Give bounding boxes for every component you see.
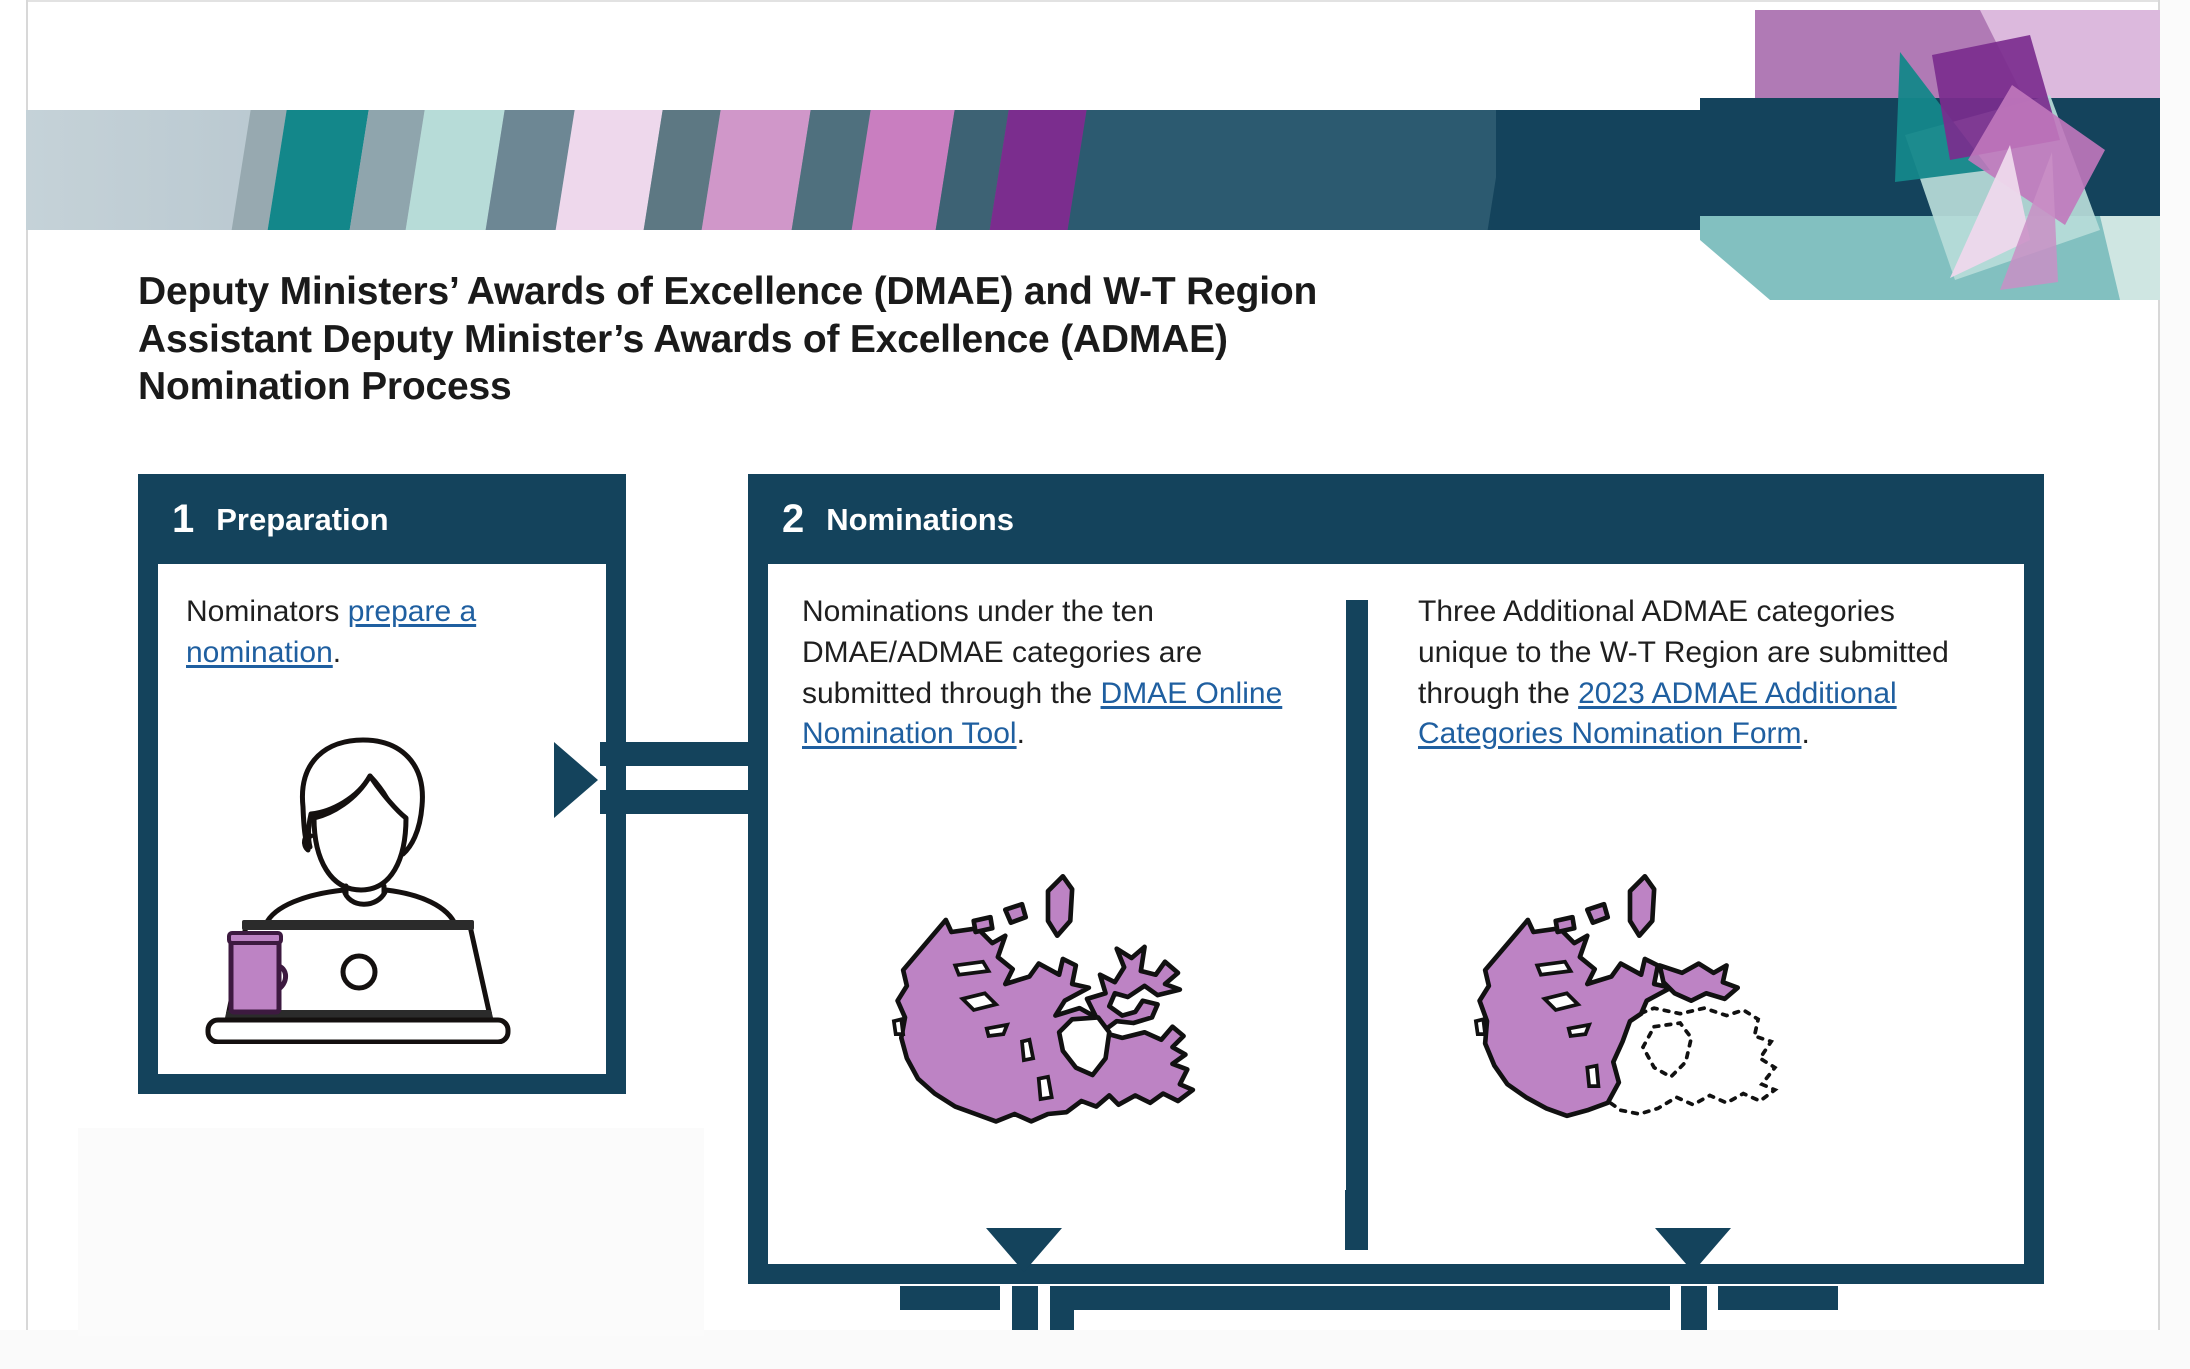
connector-stem-down-left (1012, 1286, 1038, 1330)
connector-stem-center-left (1050, 1286, 1074, 1330)
great-bear-lake-w-shape (1537, 962, 1570, 975)
arctic-island-w2 (1587, 904, 1607, 923)
arctic-island-w1 (1630, 876, 1654, 935)
step-2-column-2-paragraph: Three Additional ADMAE categories unique… (1418, 592, 1978, 755)
arctic-island-w3 (1556, 917, 1575, 932)
connector-arrow-step1-to-step2 (554, 742, 598, 818)
background-placeholder-box (78, 1128, 704, 1336)
step-1-body: Nominators prepare a nomination. (158, 564, 606, 1074)
page-title-line-1: Deputy Ministers’ Awards of Excellence (… (138, 268, 1738, 316)
page-title-line-2: Assistant Deputy Minister’s Awards of Ex… (138, 316, 1738, 364)
arctic-island-2 (1005, 904, 1025, 923)
step-2-column-1-paragraph: Nominations under the ten DMAE/ADMAE cat… (802, 592, 1312, 755)
connector-rail-right (1718, 1286, 1838, 1310)
athabasca-lake-w-shape (1569, 1025, 1589, 1036)
page-title: Deputy Ministers’ Awards of Excellence (… (138, 268, 1738, 411)
west-coast-island-shape (894, 1019, 903, 1034)
canada-map-full-svg (866, 834, 1256, 1134)
step-2-col1-text-after: . (1017, 717, 1025, 750)
step-2-title: Nominations (826, 504, 1014, 535)
mug-rim-shape (229, 933, 281, 943)
desk-shape (208, 1020, 508, 1042)
inland-lake-w-shape (1587, 1066, 1598, 1086)
step-2-number: 2 (782, 499, 804, 539)
infographic-page: Deputy Ministers’ Awards of Excellence (… (0, 0, 2190, 1369)
step-1-header: 1 Preparation (138, 474, 626, 564)
page-margin-right (2160, 0, 2190, 1369)
step-2-body: Nominations under the ten DMAE/ADMAE cat… (768, 564, 2024, 1264)
athabasca-lake-shape (987, 1025, 1007, 1036)
step-1-paragraph: Nominators prepare a nomination. (186, 592, 576, 674)
arctic-island-1 (1048, 876, 1072, 935)
mug-shape (231, 938, 279, 1012)
arctic-island-3 (974, 917, 993, 932)
step-2-header: 2 Nominations (748, 474, 2044, 564)
step-1-text-after: . (333, 636, 341, 669)
eastern-canada-dotted-shape (1608, 1008, 1775, 1114)
canada-map-full-illustration (866, 834, 1256, 1134)
connector-bar-upper (600, 742, 750, 766)
connector-bar-lower (600, 790, 750, 814)
banner-stripe-13 (1065, 110, 1496, 230)
inland-lake-shape (1039, 1077, 1052, 1099)
step-1-title: Preparation (216, 504, 388, 535)
step-2-panel: 2 Nominations Nominations under the ten … (748, 474, 2044, 1284)
west-coast-island-w-shape (1476, 1019, 1485, 1034)
step-1-number: 1 (172, 499, 194, 539)
great-bear-lake-shape (955, 962, 988, 975)
page-title-line-3: Nomination Process (138, 363, 1738, 411)
geometric-shapes-svg (1700, 0, 2160, 330)
step-2-col2-text-after: . (1801, 717, 1809, 750)
step-1-panel: 1 Preparation Nominators prepare a nomin… (138, 474, 626, 1094)
laptop-screen-top-edge (242, 920, 474, 930)
person-at-laptop-illustration (198, 714, 528, 1044)
connector-stem-down-right (1681, 1286, 1707, 1330)
winnipeg-lake-shape (1022, 1040, 1033, 1060)
step-2-column-divider (1346, 600, 1368, 1250)
connector-arrow-down-left (986, 1228, 1062, 1272)
arctic-archipelago-shape (1660, 964, 1738, 1001)
connector-stub-middle (1345, 1190, 1367, 1250)
page-margin-left (0, 0, 26, 1369)
step-1-text-before: Nominators (186, 595, 348, 628)
canada-map-west-svg (1448, 834, 1838, 1134)
connector-rail-left (900, 1286, 1000, 1310)
connector-arrow-down-right (1655, 1228, 1731, 1272)
header-geometric-artwork (1700, 0, 2160, 330)
connector-rail-center (1050, 1286, 1670, 1310)
person-laptop-svg (198, 714, 528, 1044)
banner-stripe-group (26, 110, 1496, 230)
canada-map-west-region-illustration (1448, 834, 1838, 1134)
laptop-logo-icon (343, 956, 375, 988)
